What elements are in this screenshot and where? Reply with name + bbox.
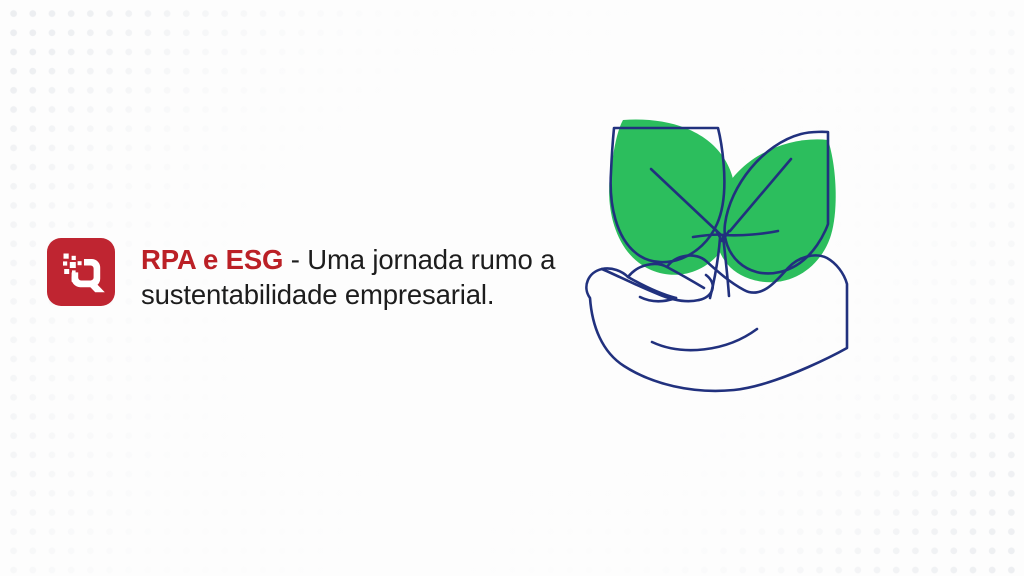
page-title: RPA e ESG - Uma jornada rumo a sustentab… [141, 242, 571, 312]
finger-line-2 [628, 277, 676, 298]
sprout-in-hand-icon [566, 104, 886, 404]
slide-canvas: RPA e ESG - Uma jornada rumo a sustentab… [0, 0, 1024, 576]
hand-holding-sprout-illustration [566, 104, 886, 404]
headline-block: RPA e ESG - Uma jornada rumo a sustentab… [47, 238, 571, 312]
brand-logo [47, 238, 115, 306]
headline-accent: RPA e ESG [141, 244, 283, 275]
hand-outline [586, 255, 847, 390]
q-pixel-logo-icon [47, 238, 115, 306]
palm-crease [652, 329, 757, 350]
